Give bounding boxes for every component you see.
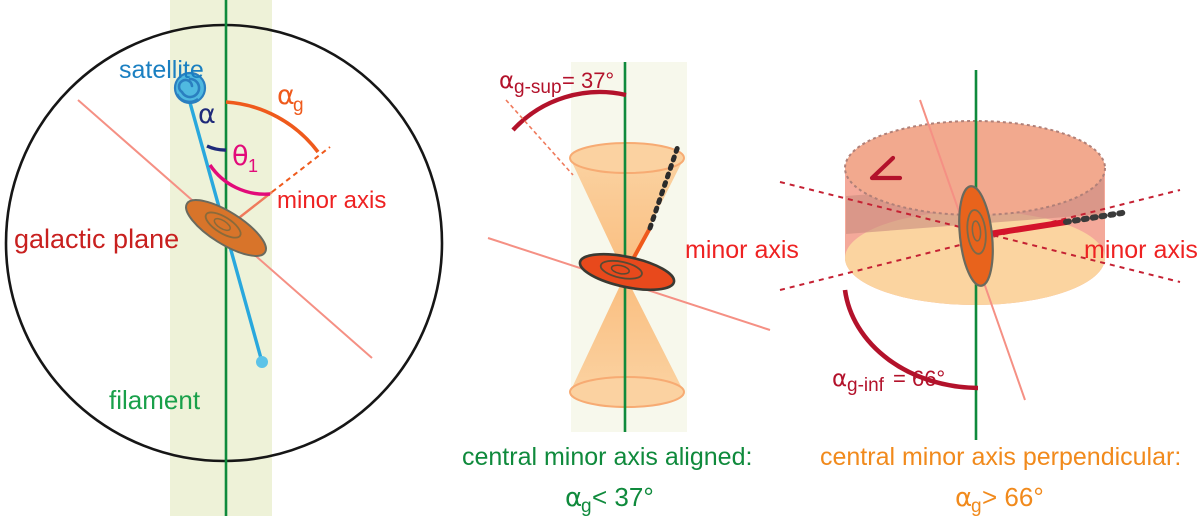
caption-right-symbol: α [955,483,972,513]
panel-right: α g-inf = 66° minor axis central minor a… [780,70,1198,516]
caption-right-line1: central minor axis perpendicular: [820,443,1181,471]
minor-axis-dashed [272,147,330,192]
caption-right-line2: α g > 66° [955,482,1044,516]
caption-middle-subscript: g [581,496,592,516]
caption-middle-relation: < 37° [592,482,654,512]
caption-right-relation: > 66° [982,482,1044,512]
panel-middle: α g-sup = 37° minor axis central minor a… [462,62,799,516]
theta-symbol: θ [232,141,249,172]
alpha-g-inf-subscript: g-inf [847,375,885,396]
alpha-g-inf-annotation: α g-inf = 66° [832,366,945,396]
theta-subscript: 1 [248,156,258,176]
alpha-g-inf-symbol: α [832,366,847,392]
alpha-g-inf-value: = 66° [893,366,945,391]
caption-middle-symbol: α [565,483,582,513]
panel-left: satellite galactic plane filament minor … [6,0,442,516]
caption-middle-line1: central minor axis aligned: [462,443,752,471]
figure-canvas: satellite galactic plane filament minor … [0,0,1200,516]
satellite-vector-endpoint [256,356,268,368]
alpha-g-symbol-label: α g [277,80,304,116]
galactic-plane-label: galactic plane [14,224,179,254]
caption-middle-line2: α g < 37° [565,482,654,516]
diagram-svg: satellite galactic plane filament minor … [0,0,1200,516]
minor-axis-label-middle: minor axis [685,236,799,264]
caption-right-subscript: g [971,496,982,516]
filament-label: filament [109,385,201,415]
alpha-symbol-label: α [198,99,216,130]
alpha-g-subscript: g [293,95,304,116]
satellite-label: satellite [119,56,204,84]
minor-axis-label-right: minor axis [1084,236,1198,264]
minor-axis-label: minor axis [277,187,386,214]
alpha-g-sup-leader [506,100,573,175]
alpha-g-sup-value: = 37° [562,68,614,93]
alpha-g-sup-subscript: g-sup [514,77,562,98]
alpha-g-sup-symbol: α [499,68,514,94]
